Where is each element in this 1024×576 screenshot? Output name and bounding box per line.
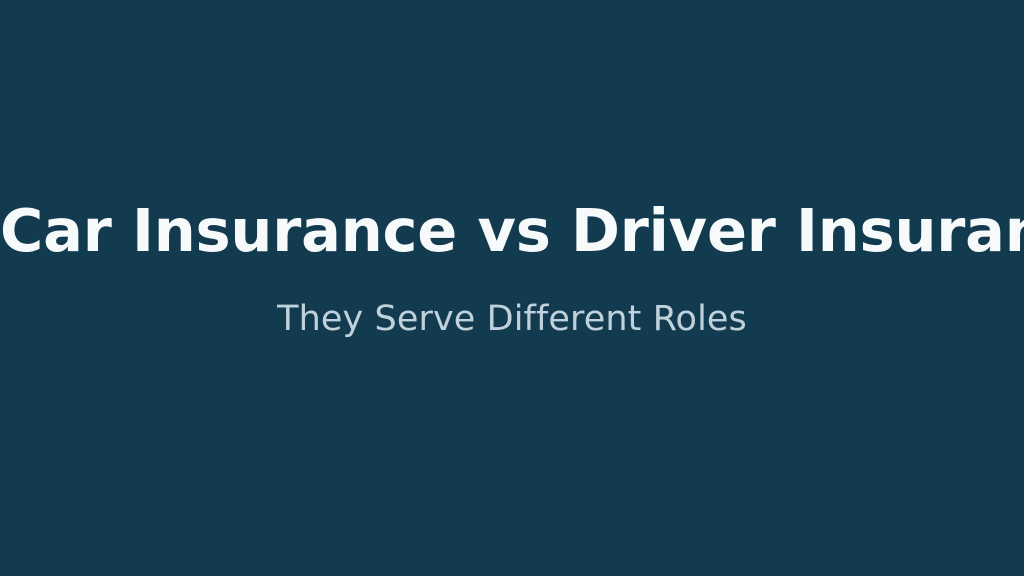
title-slide: Car Insurance vs Driver Insurance They S… [0, 0, 1024, 576]
page-title: Car Insurance vs Driver Insurance [0, 196, 1024, 266]
page-subtitle: They Serve Different Roles [0, 297, 1024, 341]
